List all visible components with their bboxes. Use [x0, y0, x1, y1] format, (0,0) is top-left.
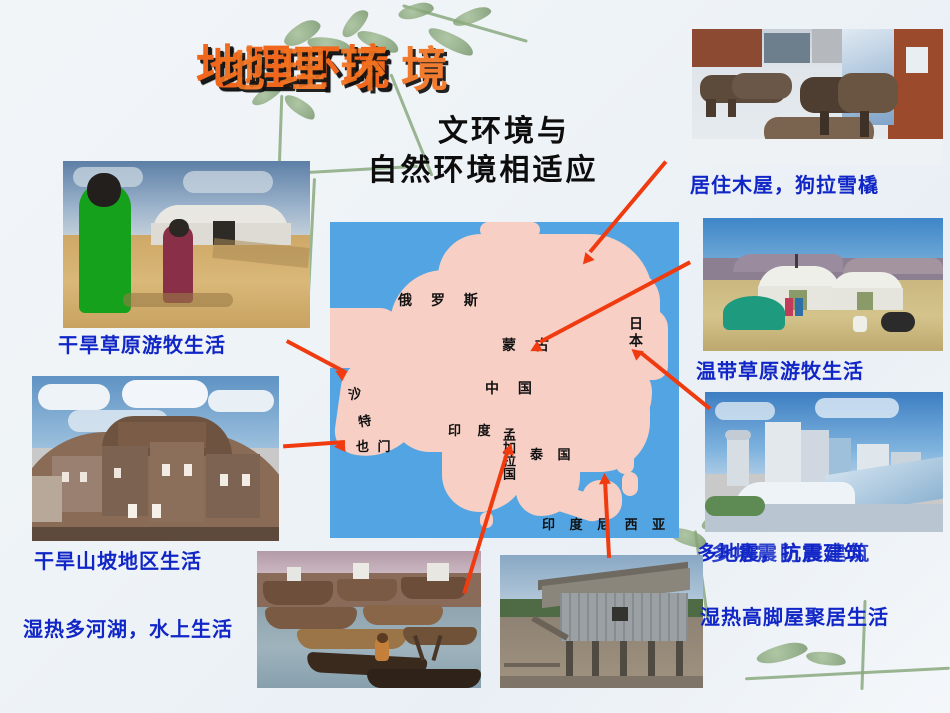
caption-earthquake-overlay: 多地震防震建筑 [711, 540, 872, 567]
map-label-bangladesh: 孟加拉国 [498, 428, 517, 492]
map-label-russia: 俄 罗 斯 [398, 290, 485, 310]
slide-title-overlay: 地理环境 [218, 40, 448, 104]
slide-canvas: 地理环境 地理环境 文环境与 自然环境相适应 [0, 0, 950, 713]
caption-temperate-grassland: 温带草原游牧生活 [696, 358, 864, 385]
asia-map: 俄 罗 斯 蒙 古 日本 中 国 沙 特 也 门 印 度 孟加拉国 泰 国 印 … [330, 222, 679, 538]
map-label-thailand: 泰 国 [530, 444, 576, 463]
photo-boat-market [257, 551, 481, 688]
map-label-saudi2: 特 [357, 408, 380, 430]
heading-line-2: 自然环境相适应 [333, 151, 633, 190]
photo-modern-city [705, 392, 943, 532]
page-heading: 文环境与 自然环境相适应 [333, 112, 633, 190]
map-label-yemen: 也 门 [356, 436, 393, 455]
caption-arid-grassland: 干旱草原游牧生活 [58, 332, 226, 359]
map-label-china: 中 国 [485, 378, 539, 398]
heading-line-1: 文环境与 [333, 112, 633, 151]
map-label-india: 印 度 [448, 420, 497, 439]
photo-mongolian-yurt [703, 218, 943, 351]
caption-wooden-house-sled: 居住木屋，狗拉雪橇 [690, 172, 879, 199]
caption-arid-hillside: 干旱山坡地区生活 [34, 548, 202, 575]
photo-reindeer-sled [692, 29, 943, 165]
photo-hillside-village [32, 376, 279, 541]
photo-desert-nomad [63, 161, 310, 328]
caption-water-life: 湿热多河湖，水上生活 [8, 616, 248, 643]
caption-stilt-house: 湿热高脚屋聚居生活 [700, 604, 889, 631]
photo-stilt-house [500, 555, 703, 688]
